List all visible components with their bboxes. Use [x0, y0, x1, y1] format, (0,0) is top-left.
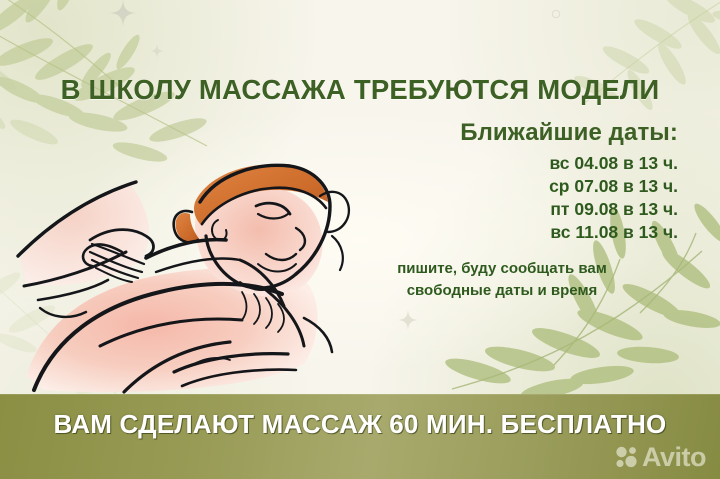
- date-item: вс 11.08 в 13 ч.: [378, 221, 678, 244]
- avito-dots-logo-icon: [614, 445, 639, 470]
- upcoming-dates-block: Ближайшие даты: вс 04.08 в 13 ч. ср 07.0…: [378, 120, 678, 244]
- date-item: пт 09.08 в 13 ч.: [378, 198, 678, 221]
- avito-wordmark: Avito: [642, 444, 706, 471]
- bottom-offer-banner: ВАМ СДЕЛАЮТ МАССАЖ 60 МИН. БЕСПЛАТНО Avi…: [0, 394, 720, 479]
- note-line: пишите, буду сообщать вам: [332, 258, 672, 280]
- sparkle-bottom-center-icon: [398, 310, 418, 330]
- avito-watermark: Avito: [614, 444, 706, 471]
- advertisement-poster: В ШКОЛУ МАССАЖА ТРЕБУЮТСЯ МОДЕЛИ: [0, 0, 720, 479]
- sparkle-top-left-icon: [150, 44, 164, 58]
- massage-line-art-illustration: [4, 140, 356, 398]
- banner-offer-text: ВАМ СДЕЛАЮТ МАССАЖ 60 МИН. БЕСПЛАТНО: [0, 409, 720, 440]
- contact-note-block: пишите, буду сообщать вам свободные даты…: [332, 258, 672, 302]
- sparkle-mid-right-icon: [548, 6, 564, 22]
- date-item: вс 04.08 в 13 ч.: [378, 152, 678, 175]
- note-line: свободные даты и время: [332, 280, 672, 302]
- date-item: ср 07.08 в 13 ч.: [378, 175, 678, 198]
- sparkle-top-center-icon: [110, 0, 136, 26]
- headline-title: В ШКОЛУ МАССАЖА ТРЕБУЮТСЯ МОДЕЛИ: [0, 74, 720, 106]
- dates-heading: Ближайшие даты:: [378, 120, 678, 146]
